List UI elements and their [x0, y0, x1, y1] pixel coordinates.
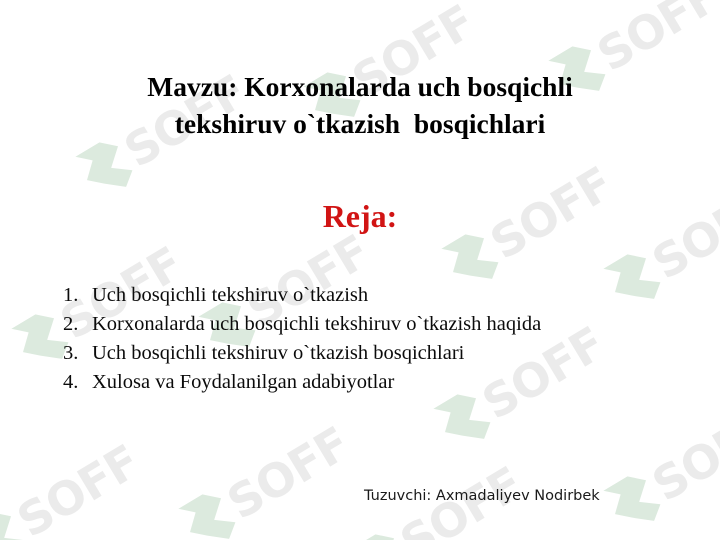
agenda-item: 1.Uch bosqichli tekshiruv o`tkazish: [63, 281, 663, 310]
agenda-item: 3.Uch bosqichli tekshiruv o`tkazish bosq…: [63, 339, 663, 368]
agenda-heading: Reja:: [0, 197, 720, 235]
agenda-item: 4.Xulosa va Foydalanilgan adabiyotlar: [63, 368, 663, 397]
agenda-item-label: Uch bosqichli tekshiruv o`tkazish bosqic…: [92, 342, 464, 364]
agenda-item-label: Korxonalarda uch bosqichli tekshiruv o`t…: [92, 313, 541, 335]
agenda-item-number: 2.: [63, 310, 90, 339]
slide-title: Mavzu: Korxonalarda uch bosqichli tekshi…: [60, 68, 660, 143]
agenda-item-number: 1.: [63, 281, 90, 310]
slide-content: Mavzu: Korxonalarda uch bosqichli tekshi…: [0, 0, 720, 540]
agenda-item: 2.Korxonalarda uch bosqichli tekshiruv o…: [63, 310, 663, 339]
presentation-slide: SOFFSOFFSOFFSOFFSOFFSOFFSOFFSOFFSOFFSOFF…: [0, 0, 720, 540]
agenda-item-label: Xulosa va Foydalanilgan adabiyotlar: [92, 371, 394, 393]
author-credit: Tuzuvchi: Axmadaliyev Nodirbek: [364, 487, 600, 506]
agenda-item-number: 3.: [63, 339, 90, 368]
agenda-list: 1.Uch bosqichli tekshiruv o`tkazish2.Kor…: [63, 281, 663, 397]
agenda-item-label: Uch bosqichli tekshiruv o`tkazish: [92, 284, 368, 306]
agenda-item-number: 4.: [63, 368, 90, 397]
